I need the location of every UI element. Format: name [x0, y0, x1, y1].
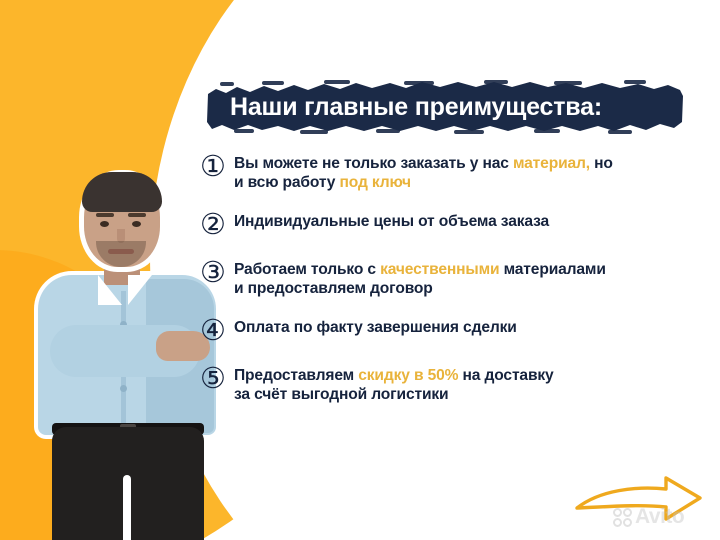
plain-text: материалами — [499, 261, 605, 278]
advantage-number-icon: ⑤ — [200, 364, 234, 394]
plain-text: Индивидуальные цены от объема заказа — [234, 213, 549, 230]
advantage-number-icon: ③ — [200, 258, 234, 288]
collar-right — [128, 275, 152, 305]
advantage-text-line: Вы можете не только заказать у нас матер… — [234, 155, 700, 174]
plain-text: и всю работу — [234, 174, 340, 191]
advantage-text: Индивидуальные цены от объема заказа — [234, 210, 700, 232]
plain-text: но — [590, 155, 613, 172]
mouth — [108, 249, 134, 254]
eyebrow-right — [128, 213, 146, 217]
avito-dots-logo-icon — [613, 508, 632, 527]
highlighted-text: под ключ — [340, 174, 411, 191]
advantage-text-line: Работаем только с качественными материал… — [234, 261, 700, 280]
advantage-item: ④Оплата по факту завершения сделки — [200, 316, 700, 346]
plain-text: Работаем только с — [234, 261, 380, 278]
advantage-text-line: и предоставляем договор — [234, 280, 700, 299]
advantages-list: ①Вы можете не только заказать у нас мате… — [200, 152, 700, 422]
avito-wordmark: Avito — [635, 505, 684, 529]
eye-left — [100, 221, 109, 227]
plain-text: Вы можете не только заказать у нас — [234, 155, 513, 172]
highlighted-text: материал, — [513, 155, 590, 172]
eye-right — [132, 221, 141, 227]
advantage-item: ③Работаем только с качественными материа… — [200, 258, 700, 298]
advantage-number-icon: ① — [200, 152, 234, 182]
plain-text: Оплата по факту завершения сделки — [234, 319, 517, 336]
plain-text: Предоставляем — [234, 367, 358, 384]
collar-left — [98, 275, 122, 305]
advantage-text: Вы можете не только заказать у нас матер… — [234, 152, 700, 192]
advantage-text-line: Индивидуальные цены от объема заказа — [234, 213, 700, 232]
eyebrow-left — [96, 213, 114, 217]
advantage-item: ②Индивидуальные цены от объема заказа — [200, 210, 700, 240]
title-banner: Наши главные преимущества: — [204, 80, 686, 134]
advantage-item: ①Вы можете не только заказать у нас мате… — [200, 152, 700, 192]
advantage-number-icon: ② — [200, 210, 234, 240]
plain-text: и предоставляем договор — [234, 280, 433, 297]
advantage-text: Работаем только с качественными материал… — [234, 258, 700, 298]
advantage-text-line: Оплата по факту завершения сделки — [234, 319, 700, 338]
advantage-item: ⑤Предоставляем скидку в 50% на доставкуз… — [200, 364, 700, 404]
advantage-text: Предоставляем скидку в 50% на доставкуза… — [234, 364, 700, 404]
advantage-text: Оплата по факту завершения сделки — [234, 316, 700, 338]
highlighted-text: скидку в 50% — [358, 367, 458, 384]
highlighted-text: качественными — [380, 261, 499, 278]
plain-text: на доставку — [458, 367, 553, 384]
advantage-text-line: за счёт выгодной логистики — [234, 386, 700, 405]
page-title: Наши главные преимущества: — [230, 80, 676, 134]
advantage-number-icon: ④ — [200, 316, 234, 346]
hair — [82, 172, 162, 212]
leg-gap — [123, 475, 131, 540]
advantage-text-line: Предоставляем скидку в 50% на доставку — [234, 367, 700, 386]
advantage-text-line: и всю работу под ключ — [234, 174, 700, 193]
plain-text: за счёт выгодной логистики — [234, 386, 448, 403]
advertisement-slide: Наши главные преимущества: ①Вы можете не… — [0, 0, 720, 540]
shirt-button — [120, 385, 127, 392]
avito-watermark: Avito — [613, 505, 684, 529]
